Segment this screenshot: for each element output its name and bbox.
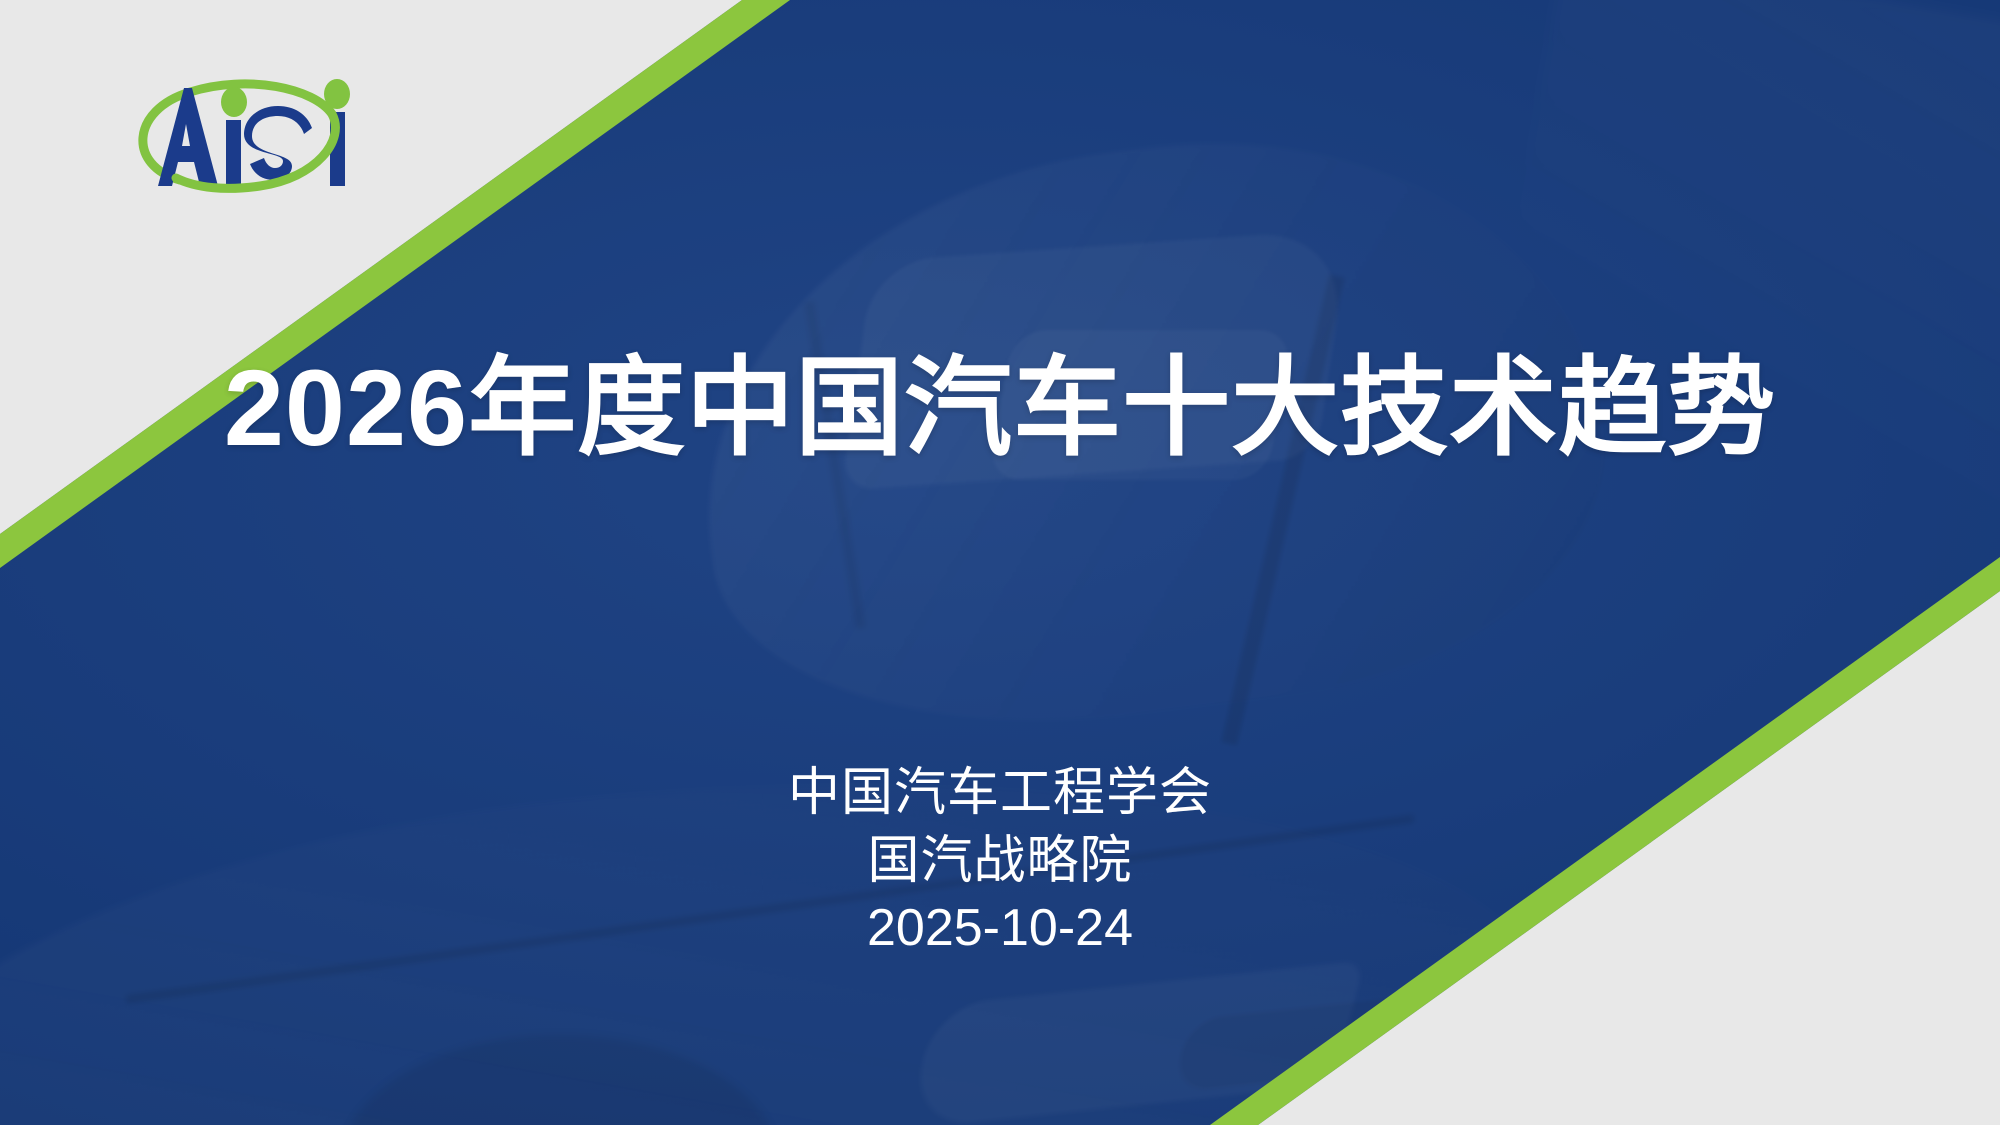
logo-letter-i-1	[226, 120, 241, 186]
organization-name: 中国汽车工程学会	[0, 760, 2000, 828]
institute-name: 国汽战略院	[0, 828, 2000, 896]
car-headlight-shape	[906, 961, 1365, 1125]
presentation-date: 2025-10-24	[0, 895, 2000, 963]
logo-dot-right	[324, 79, 350, 109]
title-slide: 2026年度中国汽车十大技术趋势 中国汽车工程学会 国汽战略院 2025-10-…	[0, 0, 2000, 1125]
subtitle-container: 中国汽车工程学会 国汽战略院 2025-10-24	[0, 760, 2000, 963]
car-headlight-inner-shape	[1170, 998, 1400, 1093]
page-title: 2026年度中国汽车十大技术趋势	[224, 348, 1776, 469]
car-wheel-arch-shape	[340, 1035, 780, 1125]
car-pillar-shape	[1221, 274, 1345, 745]
title-container: 2026年度中国汽车十大技术趋势	[0, 348, 2000, 469]
logo-dot-left	[221, 87, 247, 117]
aisi-logo	[108, 62, 358, 202]
